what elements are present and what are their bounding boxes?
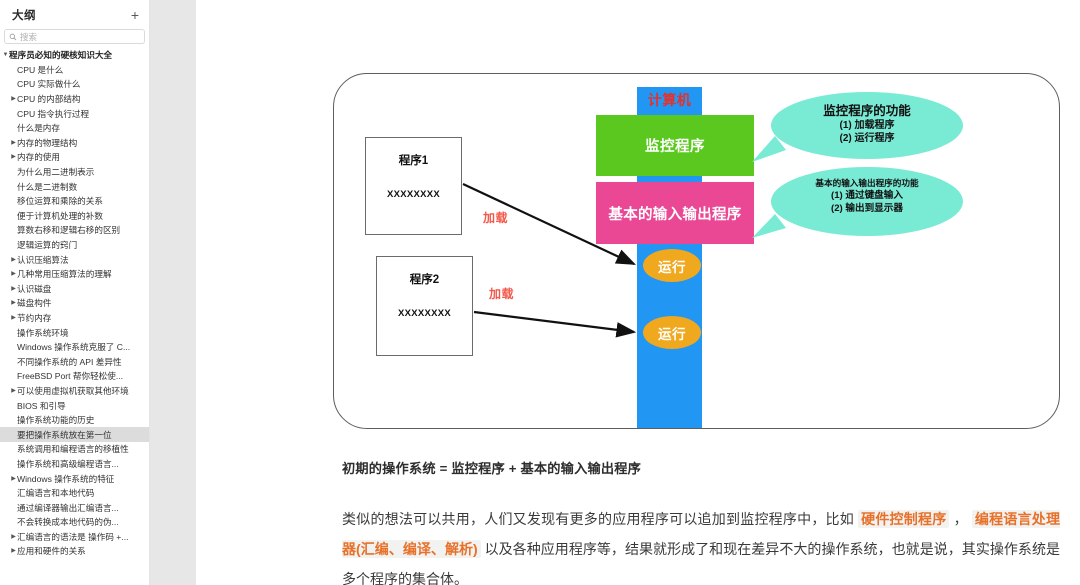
outline-item-label: 要把操作系统放在第一位 — [17, 429, 112, 441]
chevron-right-icon: ▶ — [10, 519, 17, 525]
outline-item-label: 什么是内存 — [17, 122, 60, 134]
outline-item[interactable]: ▶操作系统和高级编程语言... — [0, 457, 149, 472]
chevron-right-icon: ▶ — [10, 242, 17, 248]
chevron-right-icon[interactable]: ▶ — [10, 388, 17, 394]
chevron-right-icon[interactable]: ▶ — [10, 534, 17, 540]
outline-item-label: 系统调用和编程语言的移植性 — [17, 443, 129, 455]
chevron-right-icon[interactable]: ▶ — [10, 315, 17, 321]
chevron-right-icon: ▶ — [10, 67, 17, 73]
chevron-right-icon: ▶ — [10, 432, 17, 438]
outline-item-label: CPU 是什么 — [17, 64, 63, 76]
outline-item[interactable]: ▶认识磁盘 — [0, 282, 149, 297]
outline-item-label: 节约内存 — [17, 312, 51, 324]
chevron-right-icon: ▶ — [10, 344, 17, 350]
outline-item[interactable]: ▶便于计算机处理的补数 — [0, 209, 149, 224]
outline-item-label: 便于计算机处理的补数 — [17, 210, 103, 222]
outline-tree[interactable]: ▼程序员必知的硬核知识大全▶CPU 是什么▶CPU 实际做什么▶CPU 的内部结… — [0, 47, 149, 585]
outline-item-label: CPU 指令执行过程 — [17, 108, 89, 120]
outline-item[interactable]: ▶内存的使用 — [0, 150, 149, 165]
outline-item-label: 几种常用压缩算法的理解 — [17, 268, 112, 280]
outline-item[interactable]: ▶通过编译器输出汇编语言... — [0, 500, 149, 515]
outline-item-label: 可以使用虚拟机获取其他环境 — [17, 385, 129, 397]
outline-item[interactable]: ▶算数右移和逻辑右移的区别 — [0, 223, 149, 238]
outline-item-label: 通过编译器输出汇编语言... — [17, 502, 119, 514]
outline-item-label: 认识磁盘 — [17, 283, 51, 295]
outline-item-label: CPU 的内部结构 — [17, 93, 81, 105]
outline-item[interactable]: ▶BIOS 和引导 — [0, 398, 149, 413]
outline-item-label: Windows 操作系统的特征 — [17, 473, 114, 485]
search-input[interactable]: 搜索 — [4, 29, 145, 44]
highlight-hardware-control: 硬件控制程序 — [858, 510, 949, 528]
outline-item[interactable]: ▶汇编语言和本地代码 — [0, 486, 149, 501]
outline-item[interactable]: ▶操作系统功能的历史 — [0, 413, 149, 428]
outline-item-label: 移位运算和乘除的关系 — [17, 195, 103, 207]
outline-item-label: 认识压缩算法 — [17, 254, 69, 266]
chevron-right-icon: ▶ — [10, 213, 17, 219]
chevron-right-icon: ▶ — [10, 198, 17, 204]
outline-item[interactable]: ▶什么是内存 — [0, 121, 149, 136]
outline-item[interactable]: ▶逻辑运算的窍门 — [0, 238, 149, 253]
chevron-right-icon[interactable]: ▶ — [10, 271, 17, 277]
outline-item[interactable]: ▶磁盘构件 — [0, 296, 149, 311]
outline-item-label: 不会转换成本地代码的伪... — [17, 516, 119, 528]
chevron-right-icon: ▶ — [10, 461, 17, 467]
chevron-right-icon: ▶ — [10, 169, 17, 175]
chevron-right-icon: ▶ — [10, 184, 17, 190]
outline-item-label: 程序员必知的硬核知识大全 — [9, 49, 112, 61]
outline-item[interactable]: ▼程序员必知的硬核知识大全 — [0, 48, 149, 63]
outline-item-label: 逻辑运算的窍门 — [17, 239, 77, 251]
sidebar-gutter — [150, 0, 196, 585]
chevron-right-icon: ▶ — [10, 125, 17, 131]
outline-item[interactable]: ▶CPU 是什么 — [0, 63, 149, 78]
outline-item[interactable]: ▶FreeBSD Port 帮你轻松使... — [0, 369, 149, 384]
chevron-right-icon: ▶ — [10, 359, 17, 365]
chevron-right-icon[interactable]: ▶ — [10, 476, 17, 482]
outline-item[interactable]: ▶Windows 操作系统的特征 — [0, 471, 149, 486]
outline-item-label: BIOS 和引导 — [17, 400, 66, 412]
chevron-right-icon[interactable]: ▶ — [10, 548, 17, 554]
chevron-right-icon: ▶ — [10, 490, 17, 496]
chevron-right-icon: ▶ — [10, 330, 17, 336]
outline-item-label: 汇编语言的语法是 操作码 +... — [17, 531, 129, 543]
chevron-right-icon: ▶ — [10, 81, 17, 87]
outline-item-label: 什么是二进制数 — [17, 181, 77, 193]
outline-item[interactable]: ▶汇编语言的语法是 操作码 +... — [0, 530, 149, 545]
outline-item[interactable]: ▶什么是二进制数 — [0, 179, 149, 194]
outline-item[interactable]: ▶不同操作系统的 API 差异性 — [0, 354, 149, 369]
outline-item-label: 算数右移和逻辑右移的区别 — [17, 224, 120, 236]
chevron-right-icon: ▶ — [10, 446, 17, 452]
outline-item-label: 内存的物理结构 — [17, 137, 77, 149]
sidebar-title: 大纲 — [12, 7, 36, 23]
chevron-right-icon: ▶ — [10, 417, 17, 423]
outline-item[interactable]: ▶可以使用虚拟机获取其他环境 — [0, 384, 149, 399]
formula-line: 初期的操作系统 = 监控程序 + 基本的输入输出程序 — [342, 458, 1058, 477]
chevron-right-icon[interactable]: ▶ — [10, 286, 17, 292]
outline-item[interactable]: ▶节约内存 — [0, 311, 149, 326]
outline-item-label: Windows 操作系统克服了 C... — [17, 341, 130, 353]
chevron-right-icon[interactable]: ▶ — [10, 257, 17, 263]
outline-item[interactable]: ▶Windows 操作系统克服了 C... — [0, 340, 149, 355]
outline-item[interactable]: ▶认识压缩算法 — [0, 252, 149, 267]
outline-item-label: 为什么用二进制表示 — [17, 166, 94, 178]
content-area: 计算机 监控程序 基本的输入输出程序 运行 运行 程序1 XXXXXXXX 程序… — [196, 0, 1080, 585]
outline-item[interactable]: ▶系统调用和编程语言的移植性 — [0, 442, 149, 457]
outline-item[interactable]: ▶操作系统环境 — [0, 325, 149, 340]
outline-item[interactable]: ▶要把操作系统放在第一位 — [0, 427, 149, 442]
add-outline-button[interactable]: + — [131, 8, 139, 22]
chevron-right-icon[interactable]: ▶ — [10, 300, 17, 306]
sidebar-header: 大纲 + — [0, 0, 149, 29]
outline-item-label: 应用和硬件的关系 — [17, 545, 86, 557]
outline-item-label: FreeBSD Port 帮你轻松使... — [17, 370, 123, 382]
outline-item[interactable]: ▶CPU 的内部结构 — [0, 92, 149, 107]
outline-item[interactable]: ▶不会转换成本地代码的伪... — [0, 515, 149, 530]
search-icon — [9, 33, 17, 41]
para-seg-2: ， — [949, 511, 971, 527]
chevron-right-icon: ▶ — [10, 373, 17, 379]
outline-item-label: 内存的使用 — [17, 151, 60, 163]
search-placeholder: 搜索 — [20, 31, 37, 43]
para-seg-1: 类似的想法可以共用，人们又发现有更多的应用程序可以追加到监控程序中，比如 — [342, 511, 858, 527]
chevron-right-icon[interactable]: ▶ — [10, 140, 17, 146]
outline-item[interactable]: ▶CPU 实际做什么 — [0, 77, 149, 92]
outline-item[interactable]: ▶内存的物理结构 — [0, 136, 149, 151]
outline-item-label: 操作系统功能的历史 — [17, 414, 94, 426]
outline-item[interactable]: ▶CPU 指令执行过程 — [0, 106, 149, 121]
chevron-right-icon[interactable]: ▶ — [10, 96, 17, 102]
outline-item-label: CPU 实际做什么 — [17, 78, 81, 90]
chevron-right-icon: ▶ — [10, 403, 17, 409]
outline-item[interactable]: ▶为什么用二进制表示 — [0, 165, 149, 180]
outline-item-label: 操作系统和高级编程语言... — [17, 458, 119, 470]
outline-item[interactable]: ▶应用和硬件的关系 — [0, 544, 149, 559]
text-column: 初期的操作系统 = 监控程序 + 基本的输入输出程序 类似的想法可以共用，人们又… — [342, 0, 1060, 585]
chevron-right-icon: ▶ — [10, 505, 17, 511]
app-root: 大纲 + 搜索 ▼程序员必知的硬核知识大全▶CPU 是什么▶CPU 实际做什么▶… — [0, 0, 1080, 585]
outline-item-label: 磁盘构件 — [17, 297, 51, 309]
chevron-down-icon[interactable]: ▼ — [2, 52, 9, 58]
body-paragraph: 类似的想法可以共用，人们又发现有更多的应用程序可以追加到监控程序中，比如 硬件控… — [342, 504, 1060, 585]
chevron-right-icon: ▶ — [10, 227, 17, 233]
outline-item-label: 不同操作系统的 API 差异性 — [17, 356, 122, 368]
chevron-right-icon: ▶ — [10, 111, 17, 117]
chevron-right-icon[interactable]: ▶ — [10, 154, 17, 160]
outline-sidebar: 大纲 + 搜索 ▼程序员必知的硬核知识大全▶CPU 是什么▶CPU 实际做什么▶… — [0, 0, 150, 585]
outline-item[interactable]: ▶几种常用压缩算法的理解 — [0, 267, 149, 282]
outline-item-label: 操作系统环境 — [17, 327, 69, 339]
outline-item[interactable]: ▶移位运算和乘除的关系 — [0, 194, 149, 209]
outline-item-label: 汇编语言和本地代码 — [17, 487, 94, 499]
